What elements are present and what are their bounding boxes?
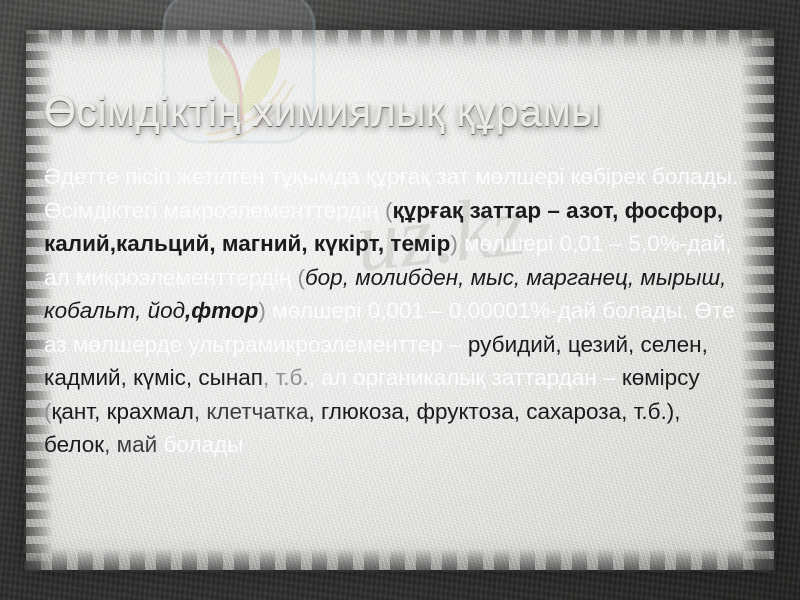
text-run: ( [44, 399, 52, 424]
body-paragraph: Әдетте пісіп жетілген тұқымда құрғақ зат… [44, 160, 750, 194]
text-run: қант, крахмал [52, 399, 194, 424]
text-run: ) [258, 298, 266, 323]
slide-title: Өсімдіктің химиялық құрамы [44, 87, 744, 137]
text-run: Өсімдіктегі макроэлементтердің [44, 198, 385, 223]
text-run: ( [298, 265, 306, 290]
text-run: ) [450, 231, 458, 256]
text-run: , май [104, 432, 157, 457]
body-paragraph: Өсімдіктегі макроэлементтердің (құрғақ з… [44, 194, 750, 395]
text-run: , т.б. [263, 365, 309, 390]
paper-edge-bottom [26, 546, 774, 572]
body-paragraph: (қант, крахмал, клетчатка, глюкоза, фрук… [44, 395, 750, 462]
text-run: , клетчатка [194, 399, 309, 424]
text-run: ( [385, 198, 393, 223]
presentation-slide: uz.kz Өсімдіктің химиялық құрамы Әдетте … [0, 0, 800, 600]
slide-body: Әдетте пісіп жетілген тұқымда құрғақ зат… [44, 160, 750, 462]
text-run: , глюкоза, фруктоза, сахароза, т.б.) [309, 399, 675, 424]
text-run: , ал органикалық заттардан – [309, 365, 622, 390]
text-run: көмірсу [622, 365, 700, 390]
text-run: ,фтор [185, 298, 258, 323]
text-run: болады [157, 432, 243, 457]
paper-edge-top [26, 28, 774, 50]
text-run: Әдетте пісіп жетілген тұқымда құрғақ зат… [44, 164, 738, 189]
